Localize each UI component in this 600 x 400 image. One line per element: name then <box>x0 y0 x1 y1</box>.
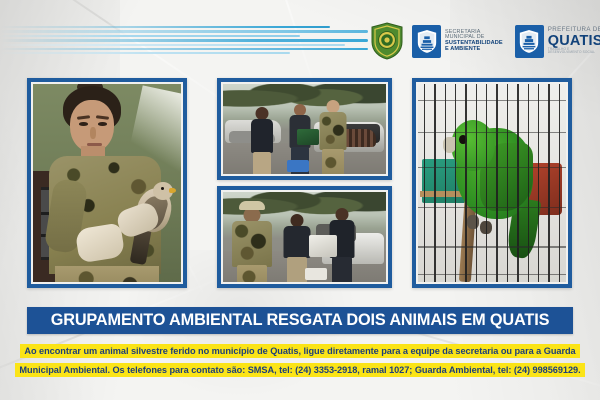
body-copy-line-1: Ao encontrar um animal silvestre ferido … <box>0 341 600 360</box>
speedline <box>0 48 368 50</box>
photo-street-team-top <box>217 78 392 180</box>
logo-line-4: E AMBIENTE <box>445 47 503 53</box>
photo-parrot-cage <box>412 78 572 288</box>
photo-image-parrot-cage <box>418 84 566 282</box>
photo-frame-inner <box>31 82 183 284</box>
speedline <box>0 35 300 37</box>
header-logo-group: SECRETARIA MUNICIPAL DE SUSTENTABILIDADE… <box>370 18 592 64</box>
logo-secretaria-municipal: SECRETARIA MUNICIPAL DE SUSTENTABILIDADE… <box>412 25 503 58</box>
speedline <box>0 44 345 46</box>
logo-line-3: TRABALHO E DESENVOLVIMENTO SOCIAL <box>548 48 600 55</box>
logo-secretaria-text: SECRETARIA MUNICIPAL DE SUSTENTABILIDADE… <box>445 30 503 52</box>
body-copy-line-2: Municipal Ambiental. Os telefones para c… <box>0 360 600 379</box>
logo-prefeitura-quatis: PREFEITURA DE QUATIS TRABALHO E DESENVOL… <box>515 25 600 58</box>
speedline <box>0 39 368 42</box>
speedline <box>0 26 330 28</box>
photo-image-officer-bird <box>33 84 181 282</box>
speedline <box>0 30 368 33</box>
brasao-mark-icon <box>412 25 441 58</box>
header-speedlines <box>0 26 368 56</box>
speedline <box>0 52 290 54</box>
headline-banner: GRUPAMENTO AMBIENTAL RESGATA DOIS ANIMAI… <box>27 307 573 334</box>
page-title: GRUPAMENTO AMBIENTAL RESGATA DOIS ANIMAI… <box>51 311 550 330</box>
body-copy-line-2-text: Municipal Ambiental. Os telefones para c… <box>15 363 584 377</box>
photo-frame-inner <box>221 190 388 284</box>
guarda-municipal-shield-icon <box>370 22 404 60</box>
photo-officer-bird <box>27 78 187 288</box>
photo-street-team-bottom <box>217 186 392 288</box>
photo-image-street-team-top <box>223 84 386 174</box>
body-copy-line-1-text: Ao encontrar um animal silvestre ferido … <box>20 344 579 358</box>
photo-frame-inner <box>416 82 568 284</box>
photo-frame-inner <box>221 82 388 176</box>
brasao-quatis-icon <box>515 25 544 58</box>
photo-image-street-team-bottom <box>223 192 386 282</box>
poster-root: SECRETARIA MUNICIPAL DE SUSTENTABILIDADE… <box>0 0 600 400</box>
logo-line-2: QUATIS <box>548 34 600 49</box>
body-copy: Ao encontrar um animal silvestre ferido … <box>0 341 600 379</box>
logo-prefeitura-text: PREFEITURA DE QUATIS TRABALHO E DESENVOL… <box>548 27 600 54</box>
